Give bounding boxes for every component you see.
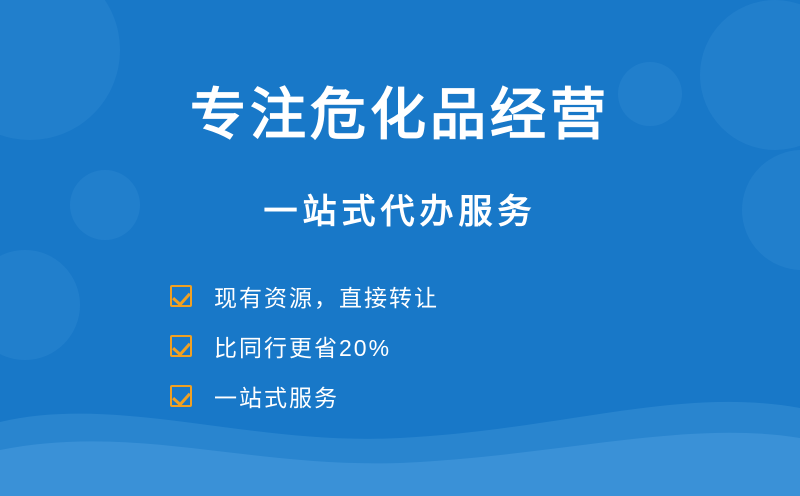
list-item: 现有资源，直接转让	[170, 272, 439, 320]
check-square-icon	[170, 285, 192, 307]
feature-list: 现有资源，直接转让 比同行更省20% 一站式服务	[170, 272, 439, 422]
list-item: 一站式服务	[170, 372, 439, 420]
check-square-icon	[170, 335, 192, 357]
promo-banner: 专注危化品经营 一站式代办服务 现有资源，直接转让 比同行更省20% 一站式服务	[0, 0, 800, 496]
feature-label: 一站式服务	[214, 379, 339, 413]
feature-label: 比同行更省20%	[214, 329, 391, 363]
feature-label: 现有资源，直接转让	[214, 279, 439, 313]
list-item: 比同行更省20%	[170, 322, 439, 370]
check-square-icon	[170, 385, 192, 407]
banner-content: 专注危化品经营 一站式代办服务 现有资源，直接转让 比同行更省20% 一站式服务	[0, 0, 800, 496]
page-subtitle: 一站式代办服务	[0, 184, 800, 233]
page-title: 专注危化品经营	[0, 84, 800, 146]
